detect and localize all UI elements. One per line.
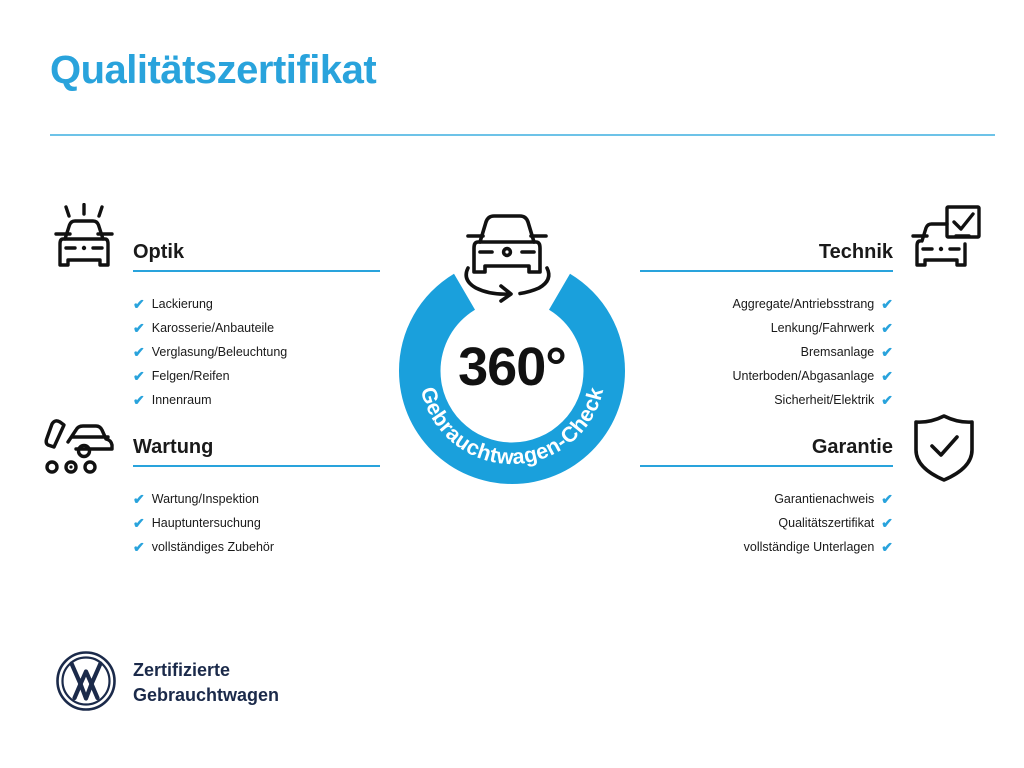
vw-logo-icon: [55, 650, 117, 712]
section-wartung: Wartung ✔ Wartung/Inspektion ✔ Hauptunte…: [133, 433, 380, 559]
list-item-label: Sicherheit/Elektrik: [774, 388, 874, 412]
check-icon: ✔: [881, 321, 893, 335]
list-item-label: Felgen/Reifen: [152, 364, 230, 388]
check-icon: ✔: [881, 369, 893, 383]
section-optik: Optik ✔ Lackierung ✔ Karosserie/Anbautei…: [133, 238, 380, 412]
badge-360-gebrauchtwagen-check: Gebrauchtwagen-Check 360°: [378, 258, 646, 484]
check-icon: ✔: [881, 540, 893, 554]
list-item: ✔ Hauptuntersuchung: [133, 511, 380, 535]
shield-check-icon: [910, 412, 978, 484]
footer-brand-text: Zertifizierte Gebrauchtwagen: [133, 658, 279, 708]
list-item: Garantienachweis ✔: [640, 487, 893, 511]
section-optik-list: ✔ Lackierung ✔ Karosserie/Anbauteile ✔ V…: [133, 292, 380, 412]
check-icon: ✔: [133, 492, 145, 506]
section-technik-title: Technik: [640, 238, 893, 266]
list-item: vollständige Unterlagen ✔: [640, 535, 893, 559]
list-item-label: Garantienachweis: [774, 487, 874, 511]
check-icon: ✔: [881, 516, 893, 530]
footer-line-1: Zertifizierte: [133, 658, 279, 683]
check-icon: ✔: [881, 492, 893, 506]
check-icon: ✔: [133, 540, 145, 554]
list-item: Lenkung/Fahrwerk ✔: [640, 316, 893, 340]
check-icon: ✔: [133, 369, 145, 383]
section-garantie-title: Garantie: [640, 433, 893, 461]
list-item-label: Verglasung/Beleuchtung: [152, 340, 288, 364]
section-technik-divider: [640, 270, 893, 272]
list-item: Sicherheit/Elektrik ✔: [640, 388, 893, 412]
car-front-shine-icon: [44, 203, 124, 273]
list-item-label: Unterboden/Abgasanlage: [732, 364, 874, 388]
check-icon: ✔: [881, 297, 893, 311]
list-item-label: vollständiges Zubehör: [152, 535, 274, 559]
list-item: Unterboden/Abgasanlage ✔: [640, 364, 893, 388]
page-title: Qualitätszertifikat: [50, 48, 376, 92]
list-item-label: Karosserie/Anbauteile: [152, 316, 274, 340]
footer-line-2: Gebrauchtwagen: [133, 683, 279, 708]
list-item: ✔ Wartung/Inspektion: [133, 487, 380, 511]
list-item-label: Aggregate/Antriebsstrang: [733, 292, 875, 316]
list-item-label: vollständige Unterlagen: [744, 535, 875, 559]
list-item: Aggregate/Antriebsstrang ✔: [640, 292, 893, 316]
list-item-label: Wartung/Inspektion: [152, 487, 259, 511]
section-wartung-title: Wartung: [133, 433, 380, 461]
car-front-checkbox-icon: [906, 203, 984, 273]
list-item-label: Innenraum: [152, 388, 212, 412]
section-wartung-divider: [133, 465, 380, 467]
list-item: ✔ Innenraum: [133, 388, 380, 412]
check-icon: ✔: [133, 393, 145, 407]
section-wartung-header: Wartung: [133, 433, 380, 473]
check-icon: ✔: [133, 345, 145, 359]
check-icon: ✔: [133, 516, 145, 530]
list-item: Bremsanlage ✔: [640, 340, 893, 364]
header-divider: [50, 134, 995, 136]
check-icon: ✔: [133, 321, 145, 335]
section-optik-title: Optik: [133, 238, 380, 266]
list-item-label: Bremsanlage: [801, 340, 875, 364]
list-item-label: Hauptuntersuchung: [152, 511, 261, 535]
list-item: ✔ Lackierung: [133, 292, 380, 316]
badge-value: 360°: [378, 340, 646, 394]
check-icon: ✔: [133, 297, 145, 311]
list-item-label: Lackierung: [152, 292, 213, 316]
list-item: ✔ vollständiges Zubehör: [133, 535, 380, 559]
service-wrench-car-icon: [42, 415, 122, 477]
list-item: ✔ Verglasung/Beleuchtung: [133, 340, 380, 364]
list-item-label: Qualitätszertifikat: [778, 511, 874, 535]
check-icon: ✔: [881, 345, 893, 359]
check-icon: ✔: [881, 393, 893, 407]
list-item: ✔ Karosserie/Anbauteile: [133, 316, 380, 340]
section-garantie-divider: [640, 465, 893, 467]
list-item: ✔ Felgen/Reifen: [133, 364, 380, 388]
section-technik: Technik Aggregate/Antriebsstrang ✔ Lenku…: [640, 238, 893, 412]
list-item: Qualitätszertifikat ✔: [640, 511, 893, 535]
section-wartung-list: ✔ Wartung/Inspektion ✔ Hauptuntersuchung…: [133, 487, 380, 559]
section-garantie: Garantie Garantienachweis ✔ Qualitätszer…: [640, 433, 893, 559]
section-technik-list: Aggregate/Antriebsstrang ✔ Lenkung/Fahrw…: [640, 292, 893, 412]
section-technik-header: Technik: [640, 238, 893, 278]
section-garantie-list: Garantienachweis ✔ Qualitätszertifikat ✔…: [640, 487, 893, 559]
section-garantie-header: Garantie: [640, 433, 893, 473]
certificate-page: Qualitätszertifikat Optik ✔ Lackierung: [0, 0, 1024, 768]
section-optik-header: Optik: [133, 238, 380, 278]
section-optik-divider: [133, 270, 380, 272]
list-item-label: Lenkung/Fahrwerk: [771, 316, 875, 340]
